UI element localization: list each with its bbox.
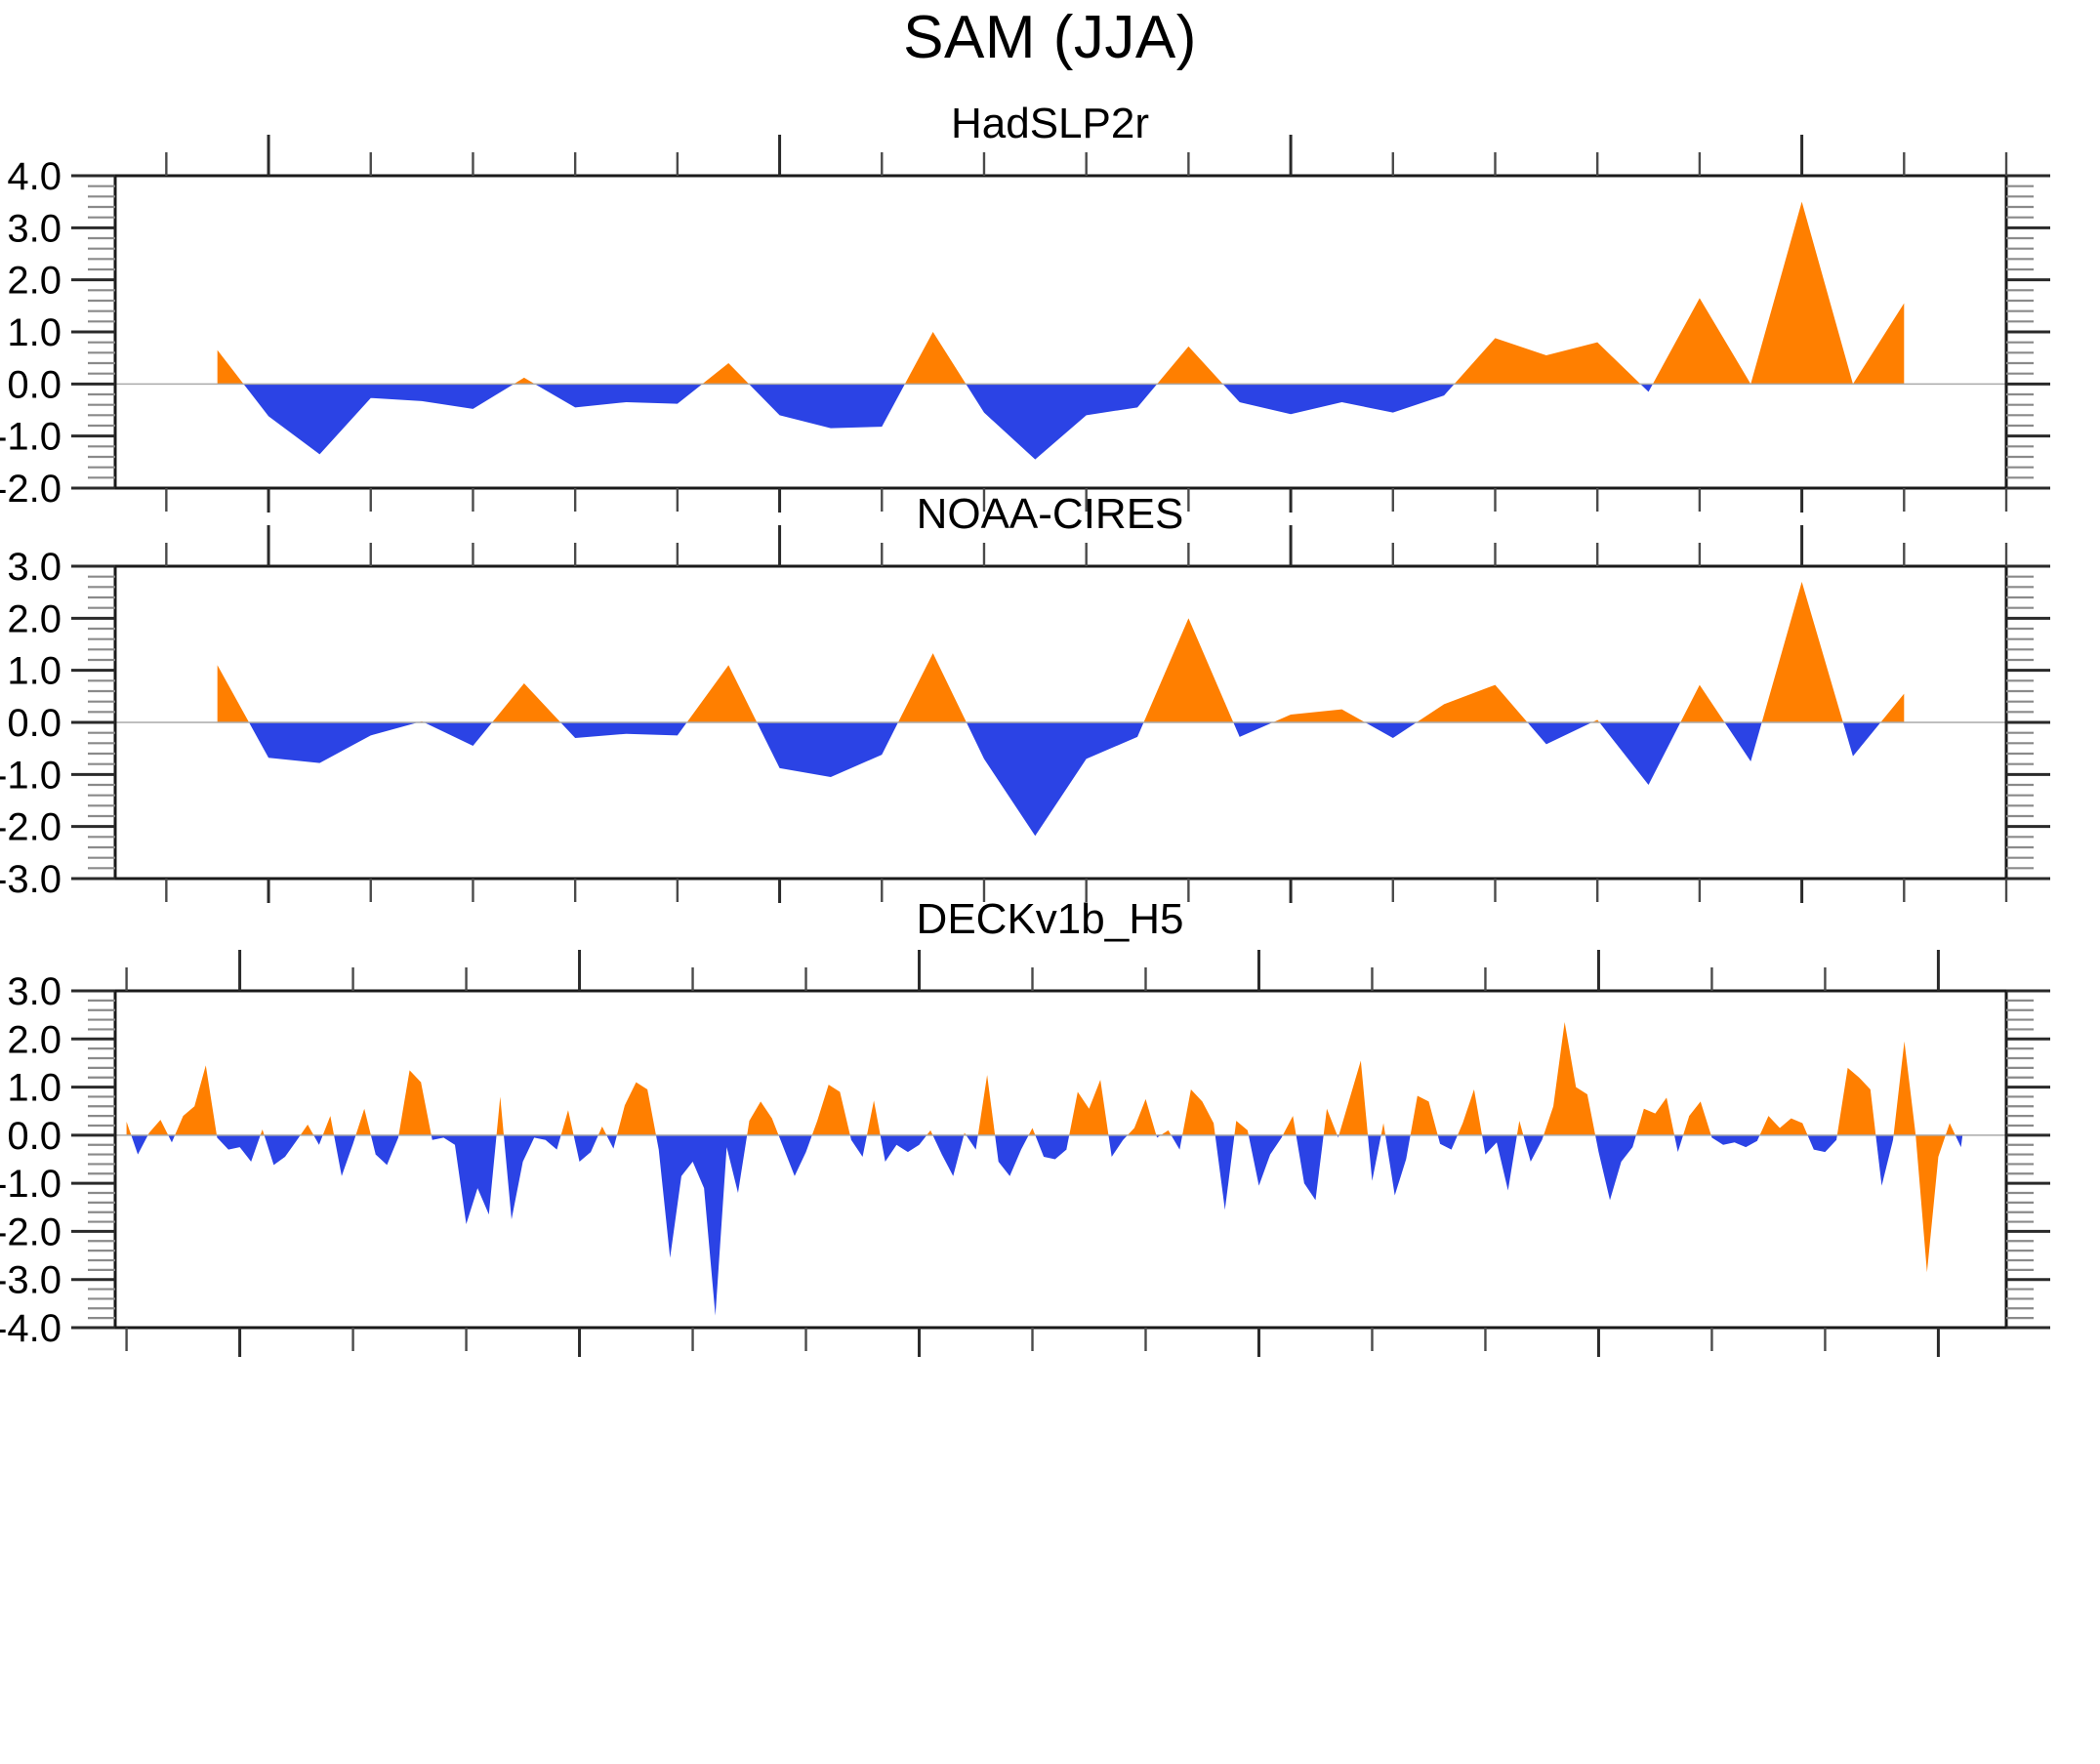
y-tick-label: 2.0 — [7, 597, 62, 640]
y-tick-label: 2.0 — [7, 260, 62, 303]
figure-root: SAM (JJA) HadSLP2r 4.03.02.01.00.0-1.0-2… — [0, 0, 2100, 1764]
y-tick-label: -1.0 — [0, 1163, 62, 1206]
y-tick-label: 2.0 — [7, 1018, 62, 1061]
y-tick-label: -2.0 — [0, 806, 62, 849]
y-tick-label: -1.0 — [0, 754, 62, 797]
y-tick-label: -1.0 — [0, 416, 62, 459]
y-tick-label: -4.0 — [0, 1307, 62, 1350]
panel-2-plot: 3.02.01.00.0-1.0-2.0-3.01980199020002010 — [0, 493, 2100, 903]
y-tick-label: 1.0 — [7, 311, 62, 354]
panel-1-plot: 4.03.02.01.00.0-1.0-2.01980199020002010 — [0, 103, 2100, 513]
y-tick-label: -3.0 — [0, 858, 62, 901]
y-tick-label: 4.0 — [7, 155, 62, 198]
y-tick-label: 3.0 — [7, 207, 62, 250]
y-tick-label: 0.0 — [7, 363, 62, 406]
panel-noaa-cires: NOAA-CIRES 3.02.01.00.0-1.0-2.0-3.019801… — [0, 493, 2100, 903]
panel-3-plot: 3.02.01.00.0-1.0-2.0-3.0-4.0186018901920… — [0, 898, 2100, 1357]
y-tick-label: 0.0 — [7, 702, 62, 745]
panel-hadslp2r: HadSLP2r 4.03.02.01.00.0-1.0-2.019801990… — [0, 103, 2100, 513]
y-tick-label: 1.0 — [7, 1067, 62, 1110]
y-tick-label: -3.0 — [0, 1259, 62, 1302]
panel-deckv1b-h5: DECKv1b_H5 3.02.01.00.0-1.0-2.0-3.0-4.01… — [0, 898, 2100, 1357]
y-tick-label: 3.0 — [7, 546, 62, 589]
figure-title: SAM (JJA) — [0, 8, 2100, 68]
y-tick-label: 1.0 — [7, 650, 62, 693]
y-tick-label: 0.0 — [7, 1115, 62, 1158]
y-tick-label: 3.0 — [7, 970, 62, 1013]
y-tick-label: -2.0 — [0, 1210, 62, 1253]
